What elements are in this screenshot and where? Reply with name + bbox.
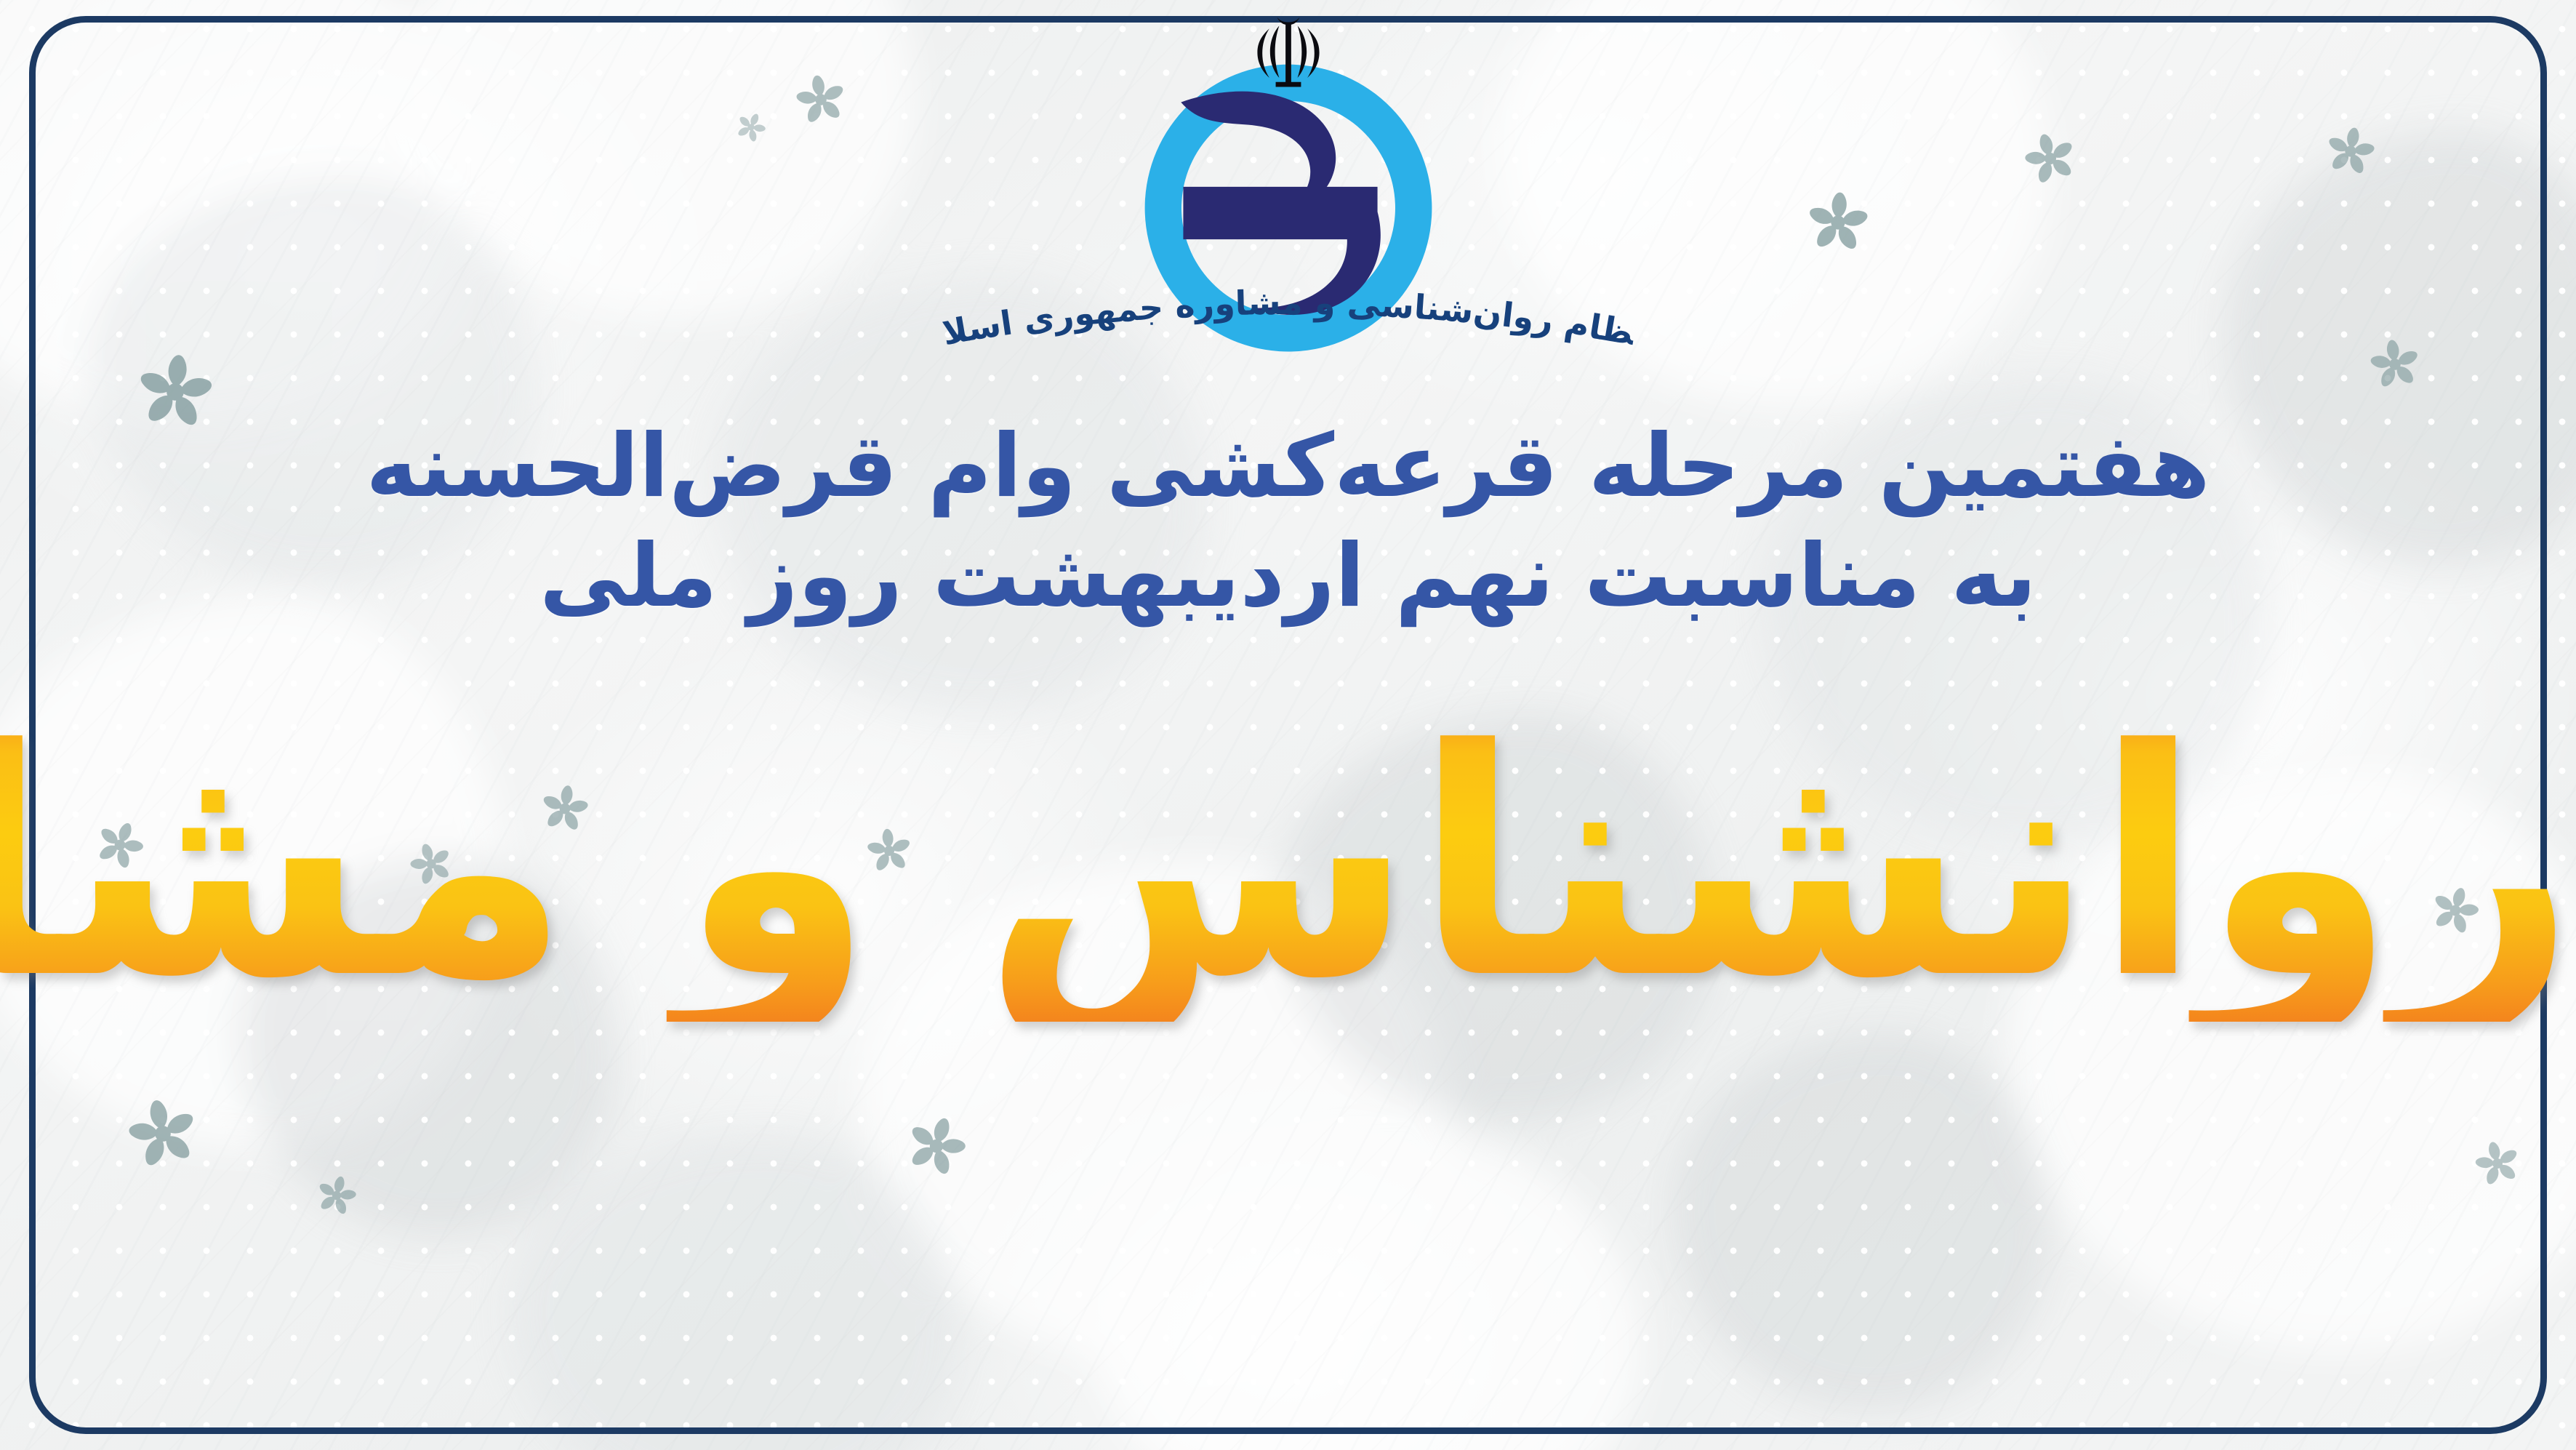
decorative-flower: [116, 1087, 209, 1180]
five-petal-flower-icon: [788, 67, 854, 132]
five-petal-flower-icon: [2319, 119, 2383, 183]
five-petal-flower-icon: [2363, 332, 2427, 396]
headline-line-1: هفتمین مرحله قرعه‌کشی وام قرض‌الحسنه: [0, 412, 2576, 521]
logo-mark: [1118, 0, 1459, 287]
headline: هفتمین مرحله قرعه‌کشی وام قرض‌الحسنه به …: [0, 412, 2576, 631]
decorative-flower: [2319, 119, 2383, 183]
five-petal-flower-icon: [1801, 185, 1875, 260]
svg-text:سازمان نظام روان‌شناسی و مشاور: سازمان نظام روان‌شناسی و مشاوره جمهوری ا…: [925, 281, 1638, 353]
organization-name: سازمان نظام روان‌شناسی و مشاوره جمهوری ا…: [925, 281, 1652, 361]
organization-name-text: سازمان نظام روان‌شناسی و مشاوره جمهوری ا…: [925, 281, 1638, 353]
poster-canvas: سازمان نظام روان‌شناسی و مشاوره جمهوری ا…: [0, 0, 2576, 1450]
iran-national-emblem-icon: [1245, 12, 1332, 99]
decorative-flower: [1801, 185, 1875, 260]
decorative-flower: [2363, 332, 2427, 396]
highlight-word: روانشناس و مشاور: [0, 709, 2576, 1022]
five-petal-flower-icon: [116, 1087, 209, 1180]
organization-logo: سازمان نظام روان‌شناسی و مشاوره جمهوری ا…: [1099, 0, 1477, 287]
decorative-flower: [788, 67, 854, 132]
headline-line-2: به مناسبت نهم اردیبهشت روز ملی: [0, 521, 2576, 631]
